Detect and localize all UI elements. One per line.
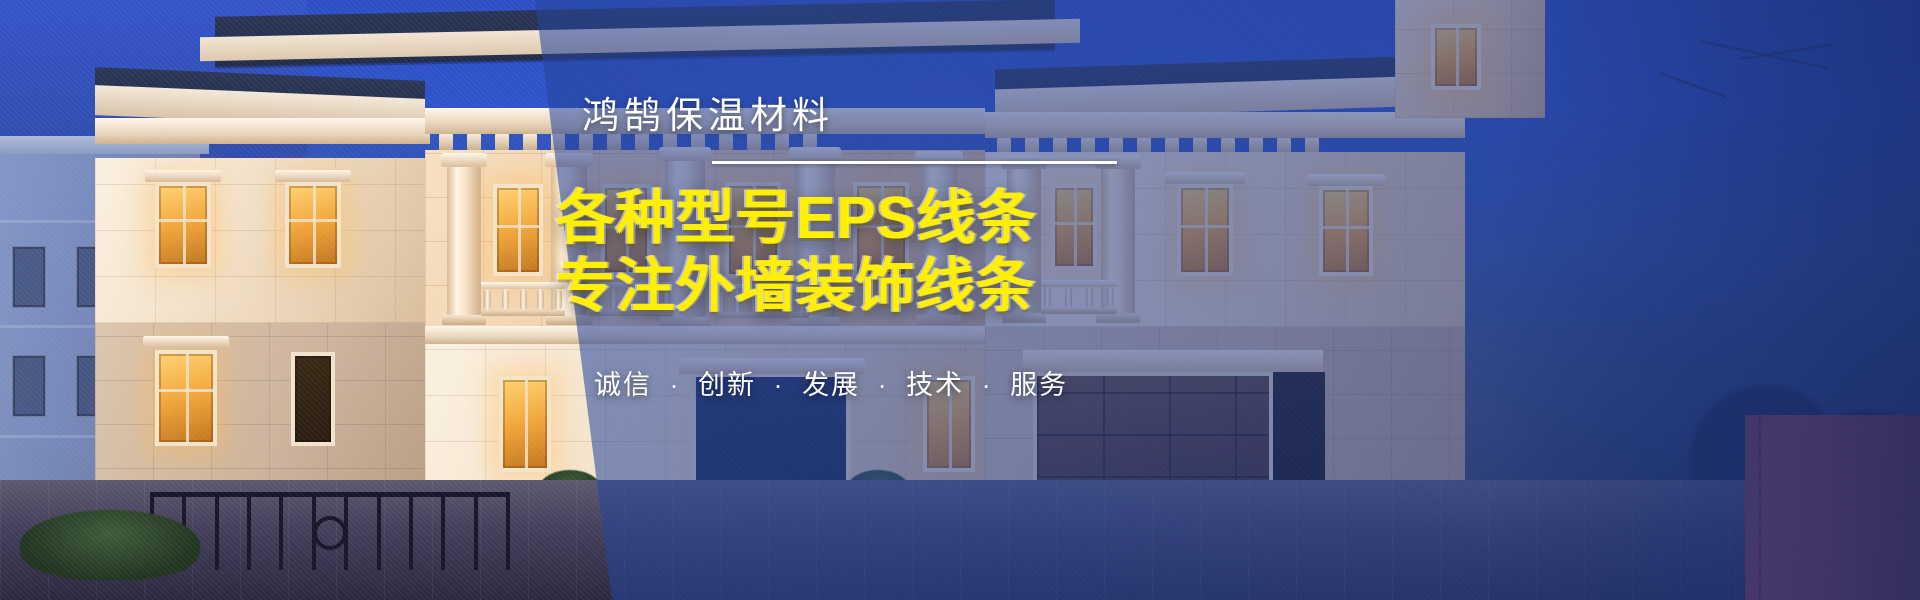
fence-bar [247, 497, 251, 570]
window-mullion-horizontal [159, 389, 213, 392]
window-mullion-horizontal [497, 225, 539, 228]
fence-bar [279, 497, 283, 570]
baluster [734, 291, 741, 312]
dentil [635, 134, 649, 150]
baluster [484, 289, 491, 310]
window-left-lower-1 [155, 350, 217, 446]
window-mullion-horizontal [857, 225, 905, 228]
dentil [523, 134, 537, 150]
dentil [551, 134, 565, 150]
window-left-upper-1 [155, 182, 211, 268]
red-wall-seam [1759, 415, 1761, 600]
window-mullion-vertical [1456, 28, 1459, 86]
dentil [607, 134, 621, 150]
window-center-lower-2 [923, 376, 975, 472]
window-hood-right-3 [1307, 174, 1385, 186]
balustrade-posts [484, 289, 562, 310]
balustrade-upper-mid [589, 282, 673, 316]
dentil [467, 134, 481, 150]
shrub-foreground-left [20, 510, 200, 580]
column-upper-1 [447, 166, 481, 316]
balustrade-posts [1044, 287, 1114, 308]
baluster [555, 289, 562, 310]
window-mullion-horizontal [1323, 226, 1369, 229]
baluster [502, 289, 509, 310]
window-mullion-vertical [518, 188, 521, 272]
balustrade-rail-top [1041, 280, 1117, 287]
baluster [799, 291, 806, 312]
column-upper-5 [921, 164, 957, 316]
baluster [1044, 287, 1051, 308]
window-hood-left-1 [145, 170, 221, 182]
garage-lintel [1023, 350, 1323, 372]
facade-left-upper [95, 158, 430, 323]
window-mullion-vertical [1205, 188, 1208, 272]
window-mullion-vertical [183, 186, 186, 264]
balustrade-right [1041, 280, 1117, 314]
balustrade-rail-bottom [481, 310, 565, 316]
dentil [775, 134, 789, 150]
window-mullion-vertical [186, 354, 189, 442]
window-right-upper-2 [1177, 184, 1233, 276]
cornice-ground-center [425, 326, 985, 344]
balustrade-upper-left [481, 282, 565, 316]
balustrade-upper-right [715, 284, 809, 318]
fence-bar [506, 497, 510, 570]
baluster [645, 289, 652, 310]
balustrade-posts [718, 291, 806, 312]
window-mullion-horizontal [159, 219, 207, 222]
window-mullion-vertical [1074, 188, 1077, 266]
fence-bar [474, 497, 478, 570]
window-center-upper-1 [493, 184, 543, 276]
baluster [750, 291, 757, 312]
balustrade-rail-bottom [589, 310, 673, 316]
window-hood-left-3 [143, 336, 229, 348]
baluster [767, 291, 774, 312]
fence-bar [441, 497, 445, 570]
window-mullion-vertical [313, 186, 316, 264]
baluster [537, 289, 544, 310]
balustrade-rail-bottom [715, 312, 809, 318]
window-left-lower-2 [291, 352, 335, 446]
balustrade-rail-top [589, 282, 673, 289]
window-mullion-vertical [949, 380, 952, 468]
dentils-center [439, 134, 817, 150]
baluster [610, 289, 617, 310]
window-center-upper-2 [601, 184, 651, 276]
dentil [439, 134, 453, 150]
window-hood-right-2 [1165, 172, 1245, 184]
window-left-upper-2 [285, 182, 341, 268]
window-center-upper-3 [725, 182, 781, 278]
window-mullion-vertical [1346, 190, 1349, 272]
baluster [1086, 287, 1093, 308]
window-mullion-horizontal [289, 219, 337, 222]
baluster [663, 289, 670, 310]
window-right-upper-3 [1319, 186, 1373, 276]
baluster [1107, 287, 1114, 308]
baluster [783, 291, 790, 312]
window-mullion-horizontal [729, 225, 777, 228]
dentil [495, 134, 509, 150]
baluster [1065, 287, 1072, 308]
side-building-window-4 [12, 355, 46, 417]
baluster [520, 289, 527, 310]
window-center-upper-4 [853, 182, 909, 278]
fence-bar [409, 497, 413, 570]
window-mullion-horizontal [1055, 222, 1093, 225]
baluster [592, 289, 599, 310]
baluster [718, 291, 725, 312]
fence-bar [377, 497, 381, 570]
entry-lintel [679, 358, 865, 374]
iron-fence [150, 492, 510, 570]
window-right-upper-1 [1051, 184, 1097, 270]
window-mullion-horizontal [605, 225, 647, 228]
window-dormer-right [1431, 24, 1481, 90]
dentil [747, 134, 761, 150]
balustrade-posts [592, 289, 670, 310]
balustrade-rail-bottom [1041, 308, 1117, 314]
cornice-left [95, 118, 430, 144]
window-center-lower-1 [499, 376, 551, 472]
window-mullion-vertical [753, 186, 756, 274]
balustrade-rail-top [715, 284, 809, 291]
window-mullion-vertical [525, 380, 528, 468]
cornice-right [985, 112, 1465, 138]
baluster [628, 289, 635, 310]
promotional-banner: 鸿鹄保温材料 各种型号EPS线条 专注外墙装饰线条 诚信 · 创新 · 发展 ·… [0, 0, 1920, 600]
red-wall [1745, 415, 1920, 600]
side-building-window-1 [12, 246, 46, 308]
balustrade-rail-top [481, 282, 565, 289]
column-right-1 [1007, 168, 1041, 314]
window-hood-left-2 [275, 170, 351, 182]
fence-scroll-ornament [313, 516, 347, 550]
fence-bar [215, 497, 219, 570]
dentil [719, 134, 733, 150]
window-mullion-vertical [626, 188, 629, 272]
window-mullion-horizontal [1181, 225, 1229, 228]
window-mullion-vertical [881, 186, 884, 274]
dentil [579, 134, 593, 150]
cornice-center [425, 108, 985, 134]
